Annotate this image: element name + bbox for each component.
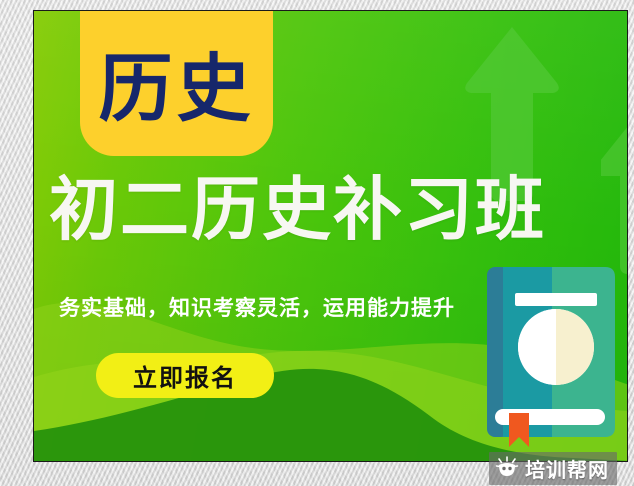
subject-badge-label: 历史 bbox=[99, 40, 255, 126]
page-title: 初二历史补习班 bbox=[49, 176, 624, 245]
sun-face-icon bbox=[495, 456, 519, 482]
subject-badge: 历史 bbox=[80, 10, 273, 156]
enroll-now-button-label: 立即报名 bbox=[133, 358, 237, 393]
enroll-now-button[interactable]: 立即报名 bbox=[96, 353, 274, 398]
course-promo-banner: 历史 初二历史补习班 bbox=[33, 10, 628, 462]
banner-subtitle: 务实基础，知识考察灵活，运用能力提升 bbox=[59, 292, 455, 322]
site-watermark-label: 培训帮网 bbox=[525, 454, 609, 483]
site-watermark: 培训帮网 bbox=[489, 452, 617, 485]
page-background: 历史 初二历史补习班 bbox=[0, 0, 634, 486]
book-illustration bbox=[485, 261, 619, 447]
